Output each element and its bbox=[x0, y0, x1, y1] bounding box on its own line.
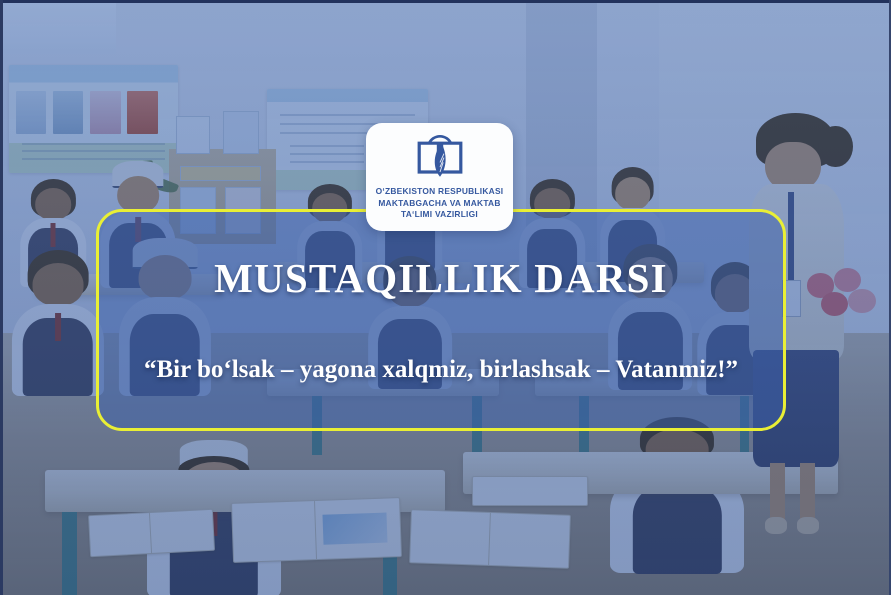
title-banner-panel: MUSTAQILLIK DARSI “Bir bo‘lsak – yagona … bbox=[96, 209, 786, 431]
banner-title: MUSTAQILLIK DARSI bbox=[99, 254, 783, 302]
open-book-flame-emblem bbox=[414, 132, 466, 180]
slide-canvas: MUSTAQILLIK DARSI “Bir bo‘lsak – yagona … bbox=[0, 0, 891, 595]
ministry-logo-text: O‘ZBEKISTON RESPUBLIKASI MAKTABGACHA VA … bbox=[376, 186, 504, 221]
ministry-line-3: TA‘LIMI VAZIRLIGI bbox=[376, 209, 504, 221]
banner-subtitle: “Bir bo‘lsak – yagona xalqmiz, birlashsa… bbox=[99, 356, 783, 384]
ministry-line-1: O‘ZBEKISTON RESPUBLIKASI bbox=[376, 186, 504, 198]
ministry-line-2: MAKTABGACHA VA MAKTAB bbox=[376, 198, 504, 210]
frame-left-border bbox=[0, 0, 3, 595]
frame-top-border bbox=[0, 0, 891, 3]
ministry-logo-card: O‘ZBEKISTON RESPUBLIKASI MAKTABGACHA VA … bbox=[366, 123, 513, 231]
